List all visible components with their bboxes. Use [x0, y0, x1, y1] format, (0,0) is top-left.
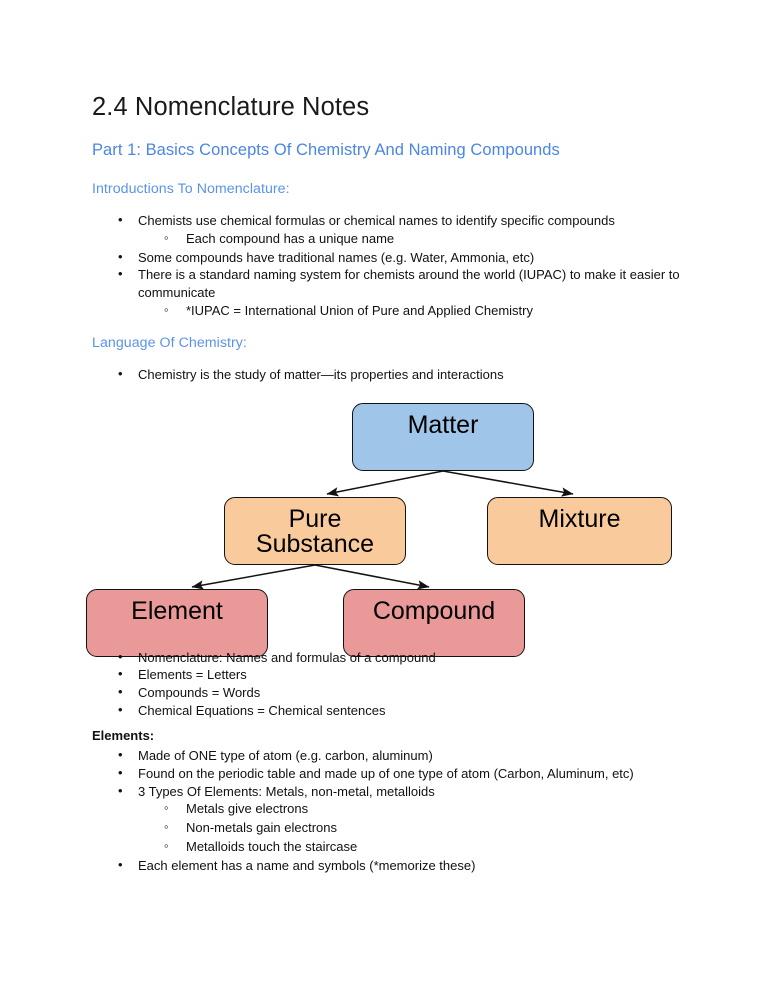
matter-classification-diagram: Matter Pure Substance Mixture Element Co…	[86, 391, 686, 649]
list-item: Each compound has a unique name	[186, 230, 680, 249]
list-item: Elements = Letters	[138, 666, 680, 684]
list-item-text: Metals give electrons	[186, 800, 680, 819]
post-diagram-bullet-list: Nomenclature: Names and formulas of a co…	[92, 649, 680, 720]
list-item: Metals give electrons	[186, 800, 680, 819]
list-item-text: Chemistry is the study of matter—its pro…	[138, 366, 680, 384]
language-bullet-list: Chemistry is the study of matter—its pro…	[92, 366, 680, 384]
list-item: Some compounds have traditional names (e…	[138, 249, 680, 267]
edge-matter-mixture	[443, 471, 573, 494]
list-item: Made of ONE type of atom (e.g. carbon, a…	[138, 747, 680, 765]
list-item-text: Found on the periodic table and made up …	[138, 765, 680, 783]
list-item-text: Non-metals gain electrons	[186, 819, 680, 838]
edge-pure-compound	[315, 565, 429, 587]
elements-bullet-list: Made of ONE type of atom (e.g. carbon, a…	[92, 747, 680, 875]
list-item: Compounds = Words	[138, 684, 680, 702]
page-title: 2.4 Nomenclature Notes	[92, 92, 680, 122]
spacer	[92, 720, 680, 728]
list-item: Chemists use chemical formulas or chemic…	[138, 212, 680, 249]
list-item-text: Metalloids touch the staircase	[186, 838, 680, 857]
list-item: Metalloids touch the staircase	[186, 838, 680, 857]
diagram-node-element[interactable]: Element	[86, 589, 268, 657]
list-item-text: Compounds = Words	[138, 684, 680, 702]
list-item: *IUPAC = International Union of Pure and…	[186, 302, 680, 321]
diagram-node-compound[interactable]: Compound	[343, 589, 525, 657]
intro-sub-list-2: *IUPAC = International Union of Pure and…	[138, 302, 680, 321]
section-heading-language: Language Of Chemistry:	[92, 335, 680, 352]
list-item: Found on the periodic table and made up …	[138, 765, 680, 783]
list-item: Chemical Equations = Chemical sentences	[138, 702, 680, 720]
diagram-node-label: Pure Substance	[256, 498, 374, 557]
diagram-node-pure-substance[interactable]: Pure Substance	[224, 497, 406, 565]
diagram-node-label: Compound	[373, 590, 495, 624]
list-item: Non-metals gain electrons	[186, 819, 680, 838]
list-item-text: *IUPAC = International Union of Pure and…	[186, 302, 680, 321]
list-item-text: Some compounds have traditional names (e…	[138, 249, 680, 267]
document-page: 2.4 Nomenclature Notes Part 1: Basics Co…	[0, 0, 768, 994]
intro-sub-list-1: Each compound has a unique name	[138, 230, 680, 249]
list-item-text: Elements = Letters	[138, 666, 680, 684]
intro-bullet-list: Chemists use chemical formulas or chemic…	[92, 212, 680, 321]
list-item-text: 3 Types Of Elements: Metals, non-metal, …	[138, 783, 680, 801]
list-item: Nomenclature: Names and formulas of a co…	[138, 649, 680, 667]
list-item-text: Chemists use chemical formulas or chemic…	[138, 212, 680, 230]
spacer	[92, 321, 680, 335]
diagram-node-label: Matter	[408, 404, 479, 438]
list-item: Chemistry is the study of matter—its pro…	[138, 366, 680, 384]
diagram-node-mixture[interactable]: Mixture	[487, 497, 672, 565]
list-item-text: There is a standard naming system for ch…	[138, 266, 680, 302]
diagram-node-label: Element	[131, 590, 223, 624]
edge-pure-element	[192, 565, 315, 587]
section-heading-elements: Elements:	[92, 728, 680, 744]
list-item: There is a standard naming system for ch…	[138, 266, 680, 320]
list-item: 3 Types Of Elements: Metals, non-metal, …	[138, 783, 680, 857]
list-item-text: Nomenclature: Names and formulas of a co…	[138, 649, 680, 667]
part-heading: Part 1: Basics Concepts Of Chemistry And…	[92, 141, 680, 161]
list-item-text: Made of ONE type of atom (e.g. carbon, a…	[138, 747, 680, 765]
edge-matter-pure	[327, 471, 443, 494]
list-item-text: Each compound has a unique name	[186, 230, 680, 249]
document-body: 2.4 Nomenclature Notes Part 1: Basics Co…	[92, 92, 680, 875]
diagram-node-matter[interactable]: Matter	[352, 403, 534, 471]
list-item: Each element has a name and symbols (*me…	[138, 857, 680, 875]
section-heading-introductions: Introductions To Nomenclature:	[92, 181, 680, 198]
list-item-text: Each element has a name and symbols (*me…	[138, 857, 680, 875]
list-item-text: Chemical Equations = Chemical sentences	[138, 702, 680, 720]
elements-sub-list: Metals give electrons Non-metals gain el…	[138, 800, 680, 857]
diagram-node-label: Mixture	[539, 498, 621, 532]
